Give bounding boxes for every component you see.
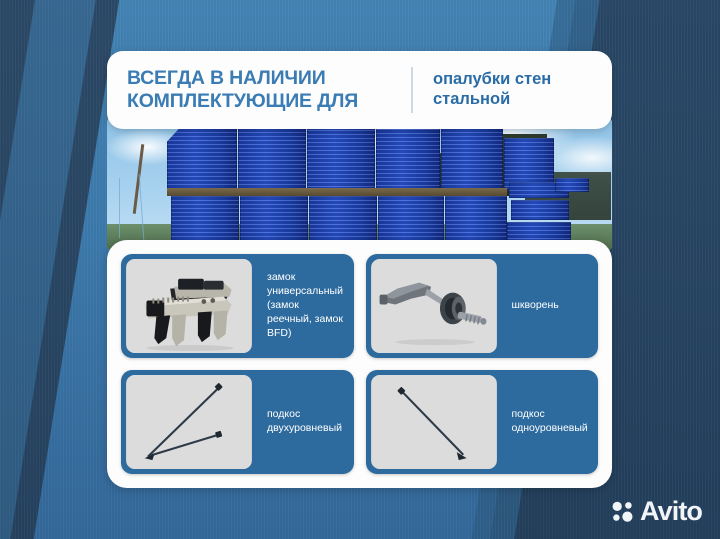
- hero-panel-stack-bot-3: [309, 196, 377, 244]
- hero-panel-stack-top-2: [238, 124, 306, 190]
- product-card[interactable]: замок универсальный (замок реечный, замо…: [121, 254, 354, 358]
- hero-panel-stack-top-4: [376, 121, 440, 190]
- hero-panel-stack-top-5: [441, 120, 503, 190]
- subhead-line-1: опалубки стен: [433, 70, 551, 90]
- hero-panel-stack-right-2: [511, 200, 569, 220]
- two-level-brace-diagram: [126, 375, 252, 469]
- page-subtitle: опалубки стен стальной: [413, 70, 551, 110]
- product-card-label: подкос двухуровневый: [257, 370, 354, 474]
- headline-line-1: ВСЕГДА В НАЛИЧИИ: [127, 67, 407, 90]
- subhead-line-2: стальной: [433, 90, 551, 110]
- product-card-label: замок универсальный (замок реечный, замо…: [257, 254, 354, 358]
- page-title: ВСЕГДА В НАЛИЧИИ КОМПЛЕКТУЮЩИЕ ДЛЯ: [107, 67, 407, 112]
- product-card-label: подкос одноуровневый: [502, 370, 599, 474]
- headline-line-2: КОМПЛЕКТУЮЩИЕ ДЛЯ: [127, 90, 407, 113]
- product-card[interactable]: шкворень: [366, 254, 599, 358]
- hero-panel-stack-top-1: [167, 128, 237, 190]
- hero-panel-stack-bot-5: [445, 196, 507, 244]
- product-card[interactable]: подкос двухуровневый: [121, 370, 354, 474]
- hero-panel-stack-bot-2: [240, 196, 308, 244]
- single-level-brace-diagram: [371, 375, 497, 469]
- hero-wire-1: [119, 178, 120, 238]
- banner-image: ВСЕГДА В НАЛИЧИИ КОМПЛЕКТУЮЩИЕ ДЛЯ опалу…: [0, 0, 720, 539]
- hero-panel-stack-bot-1: [171, 196, 239, 244]
- universal-lock-clamp-photo: [126, 259, 252, 353]
- avito-watermark: Avito: [611, 498, 702, 525]
- hero-panel-stack-right-4: [555, 178, 589, 192]
- kingpin-with-handle-photo: [371, 259, 497, 353]
- avito-dots-logo: [611, 500, 635, 524]
- product-card-grid: замок универсальный (замок реечный, замо…: [107, 240, 612, 488]
- product-card[interactable]: подкос одноуровневый: [366, 370, 599, 474]
- hero-panel-stack-top-3: [307, 122, 375, 190]
- header-panel: ВСЕГДА В НАЛИЧИИ КОМПЛЕКТУЮЩИЕ ДЛЯ опалу…: [107, 51, 612, 129]
- hero-photo: [107, 118, 612, 250]
- hero-beam-1: [167, 188, 507, 196]
- product-card-label: шкворень: [502, 254, 599, 358]
- hero-panel-stack-bot-4: [378, 196, 444, 244]
- avito-wordmark: Avito: [640, 498, 702, 525]
